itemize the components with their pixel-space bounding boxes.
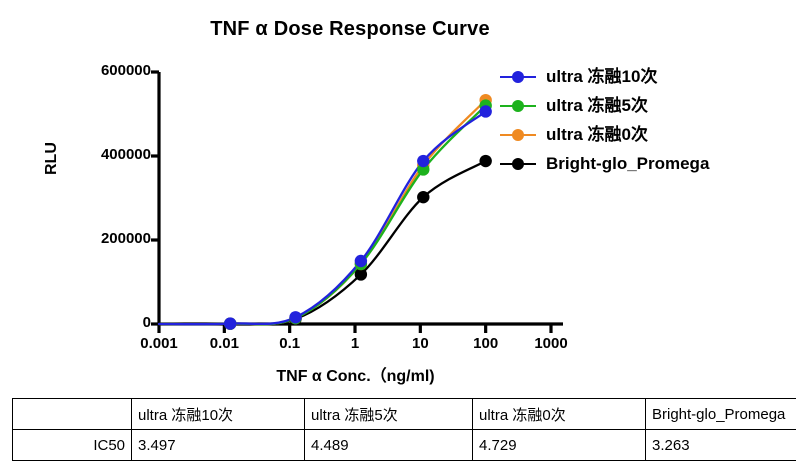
data-point [417,155,429,167]
series-0 [159,111,486,324]
circle-marker-icon [512,158,524,170]
legend-item: ultra 冻融5次 [500,91,790,120]
x-tick-label: 10 [412,335,429,352]
circle-marker-icon [512,71,524,83]
x-tick-label: 1 [351,335,359,352]
legend-label: ultra 冻融5次 [546,97,648,114]
y-tick-label: 200000 [101,230,151,247]
data-point [479,155,491,167]
chart-figure: TNF α Dose Response Curve 02000004000006… [0,0,796,466]
table-header-cell: ultra 冻融10次 [132,399,305,430]
series-layer [159,94,492,330]
legend-item: Bright-glo_Promega [500,149,790,178]
series-line [159,100,486,324]
table-header-cell: ultra 冻融0次 [473,399,646,430]
table-corner-cell [13,399,132,430]
data-point [289,311,301,323]
data-point [224,317,236,329]
table-cell: 4.489 [305,430,473,461]
legend-marker [500,99,536,113]
table-header-cell: Bright-glo_Promega [646,399,796,430]
legend-marker [500,128,536,142]
circle-marker-icon [512,100,524,112]
legend-label: ultra 冻融0次 [546,126,648,143]
legend-label: ultra 冻融10次 [546,68,657,85]
data-point [417,191,429,203]
table-row: IC50 3.497 4.489 4.729 3.263 [13,430,796,461]
chart-legend: ultra 冻融10次ultra 冻融5次ultra 冻融0次Bright-gl… [500,62,790,178]
data-point [355,255,367,267]
legend-item: ultra 冻融10次 [500,62,790,91]
series-1 [159,106,486,325]
series-line [159,111,486,324]
series-2 [159,100,486,324]
x-tick-label: 100 [473,335,498,352]
y-tick-label: 0 [143,314,151,331]
table-cell: 3.497 [132,430,305,461]
x-tick-label: 0.001 [140,335,178,352]
y-tick-label: 600000 [101,62,151,79]
x-tick-label: 0.01 [210,335,239,352]
series-markers-3 [224,155,492,330]
legend-marker [500,157,536,171]
legend-label: Bright-glo_Promega [546,155,709,172]
series-markers-2 [224,94,492,330]
y-tick-label: 400000 [101,146,151,163]
table-header-row: ultra 冻融10次 ultra 冻融5次 ultra 冻融0次 Bright… [13,399,796,430]
y-axis-ticks: 0200000400000600000 [0,0,151,392]
x-tick-label: 0.1 [279,335,300,352]
table-cell: 3.263 [646,430,796,461]
y-axis-title: RLU [43,142,61,175]
table-header-cell: ultra 冻融5次 [305,399,473,430]
legend-marker [500,70,536,84]
x-axis-title: TNF α Conc.（ng/ml) [158,362,553,386]
table-row-label: IC50 [13,430,132,461]
x-tick-label: 1000 [534,335,567,352]
data-point [479,105,491,117]
series-line [159,106,486,325]
legend-item: ultra 冻融0次 [500,120,790,149]
ic50-table: ultra 冻融10次 ultra 冻融5次 ultra 冻融0次 Bright… [12,398,796,461]
circle-marker-icon [512,129,524,141]
table-cell: 4.729 [473,430,646,461]
